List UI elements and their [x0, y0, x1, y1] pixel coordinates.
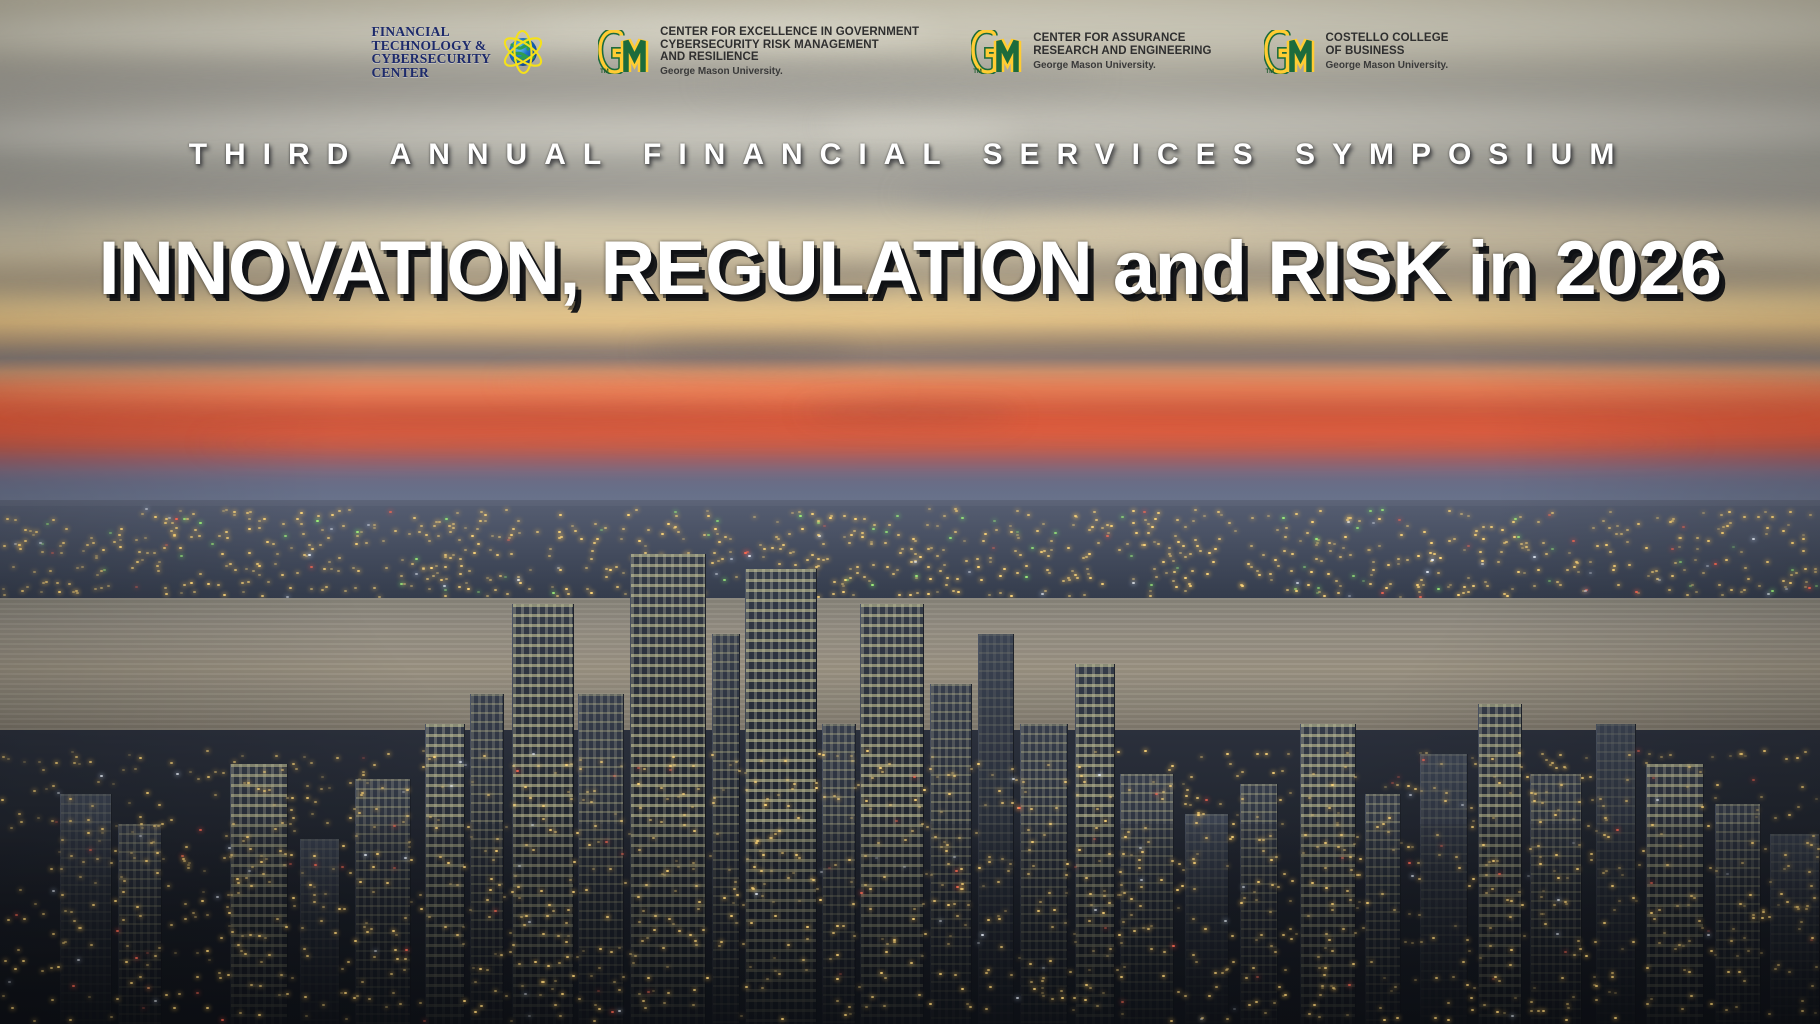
- care-line-1: CENTER FOR ASSURANCE: [1033, 32, 1211, 45]
- costello-line-1: COSTELLO COLLEGE: [1326, 32, 1449, 45]
- cegcrmr-wordmark: CENTER FOR EXCELLENCE IN GOVERNMENT CYBE…: [660, 26, 919, 78]
- event-kicker: THIRD ANNUAL FINANCIAL SERVICES SYMPOSIU…: [0, 138, 1820, 172]
- gmu-gm-mark-icon: TM: [598, 30, 651, 74]
- costello-line-2: OF BUSINESS: [1326, 45, 1449, 58]
- sponsor-logo-bar: FINANCIAL TECHNOLOGY & CYBERSECURITY CEN…: [0, 0, 1820, 104]
- globe-atom-icon: [500, 29, 546, 75]
- logo-ftcc: FINANCIAL TECHNOLOGY & CYBERSECURITY CEN…: [371, 25, 546, 79]
- care-line-2: RESEARCH AND ENGINEERING: [1033, 45, 1211, 58]
- ftcc-line-2: TECHNOLOGY &: [371, 39, 491, 53]
- trademark-symbol: TM: [973, 69, 982, 75]
- far-shore-lights: [0, 506, 1820, 598]
- cegcrmr-university: George Mason University.: [660, 65, 919, 78]
- cegcrmr-line-1: CENTER FOR EXCELLENCE IN GOVERNMENT: [660, 26, 919, 39]
- logo-center-excellence-government-cybersecurity: TM CENTER FOR EXCELLENCE IN GOVERNMENT C…: [598, 26, 919, 78]
- ftcc-line-3: CYBERSECURITY: [371, 52, 491, 66]
- logo-center-assurance-research-engineering: TM CENTER FOR ASSURANCE RESEARCH AND ENG…: [971, 30, 1211, 74]
- cegcrmr-line-2: CYBERSECURITY RISK MANAGEMENT: [660, 39, 919, 52]
- ftcc-wordmark: FINANCIAL TECHNOLOGY & CYBERSECURITY CEN…: [371, 25, 491, 79]
- trademark-symbol: TM: [1266, 69, 1275, 75]
- trademark-symbol: TM: [600, 69, 609, 75]
- costello-wordmark: COSTELLO COLLEGE OF BUSINESS George Maso…: [1326, 32, 1449, 71]
- symposium-banner: FINANCIAL TECHNOLOGY & CYBERSECURITY CEN…: [0, 0, 1820, 1024]
- ftcc-line-1: FINANCIAL: [371, 25, 491, 39]
- gmu-gm-mark-icon: TM: [1264, 30, 1317, 74]
- city-skyline-photo: [0, 500, 1820, 1024]
- logo-costello-college-of-business: TM COSTELLO COLLEGE OF BUSINESS George M…: [1264, 30, 1449, 74]
- care-wordmark: CENTER FOR ASSURANCE RESEARCH AND ENGINE…: [1033, 32, 1211, 71]
- care-university: George Mason University.: [1033, 59, 1211, 72]
- cegcrmr-line-3: AND RESILIENCE: [660, 51, 919, 64]
- gmu-gm-mark-icon: TM: [971, 30, 1024, 74]
- event-headline: INNOVATION, REGULATION and RISK in 2026: [0, 228, 1820, 310]
- ftcc-line-4: CENTER: [371, 66, 491, 80]
- costello-university: George Mason University.: [1326, 59, 1449, 72]
